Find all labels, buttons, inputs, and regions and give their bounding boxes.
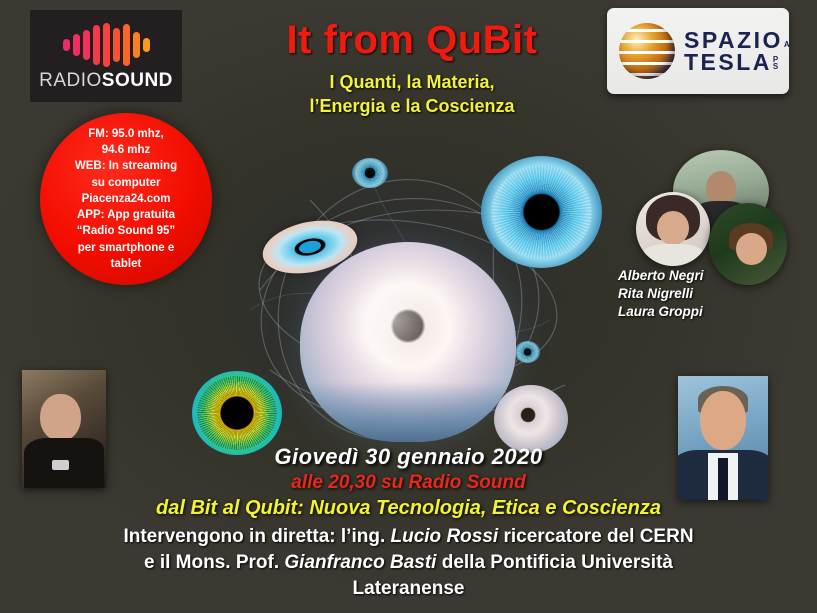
page-title: It from QuBit [232, 18, 592, 63]
radio-sound-wordmark: RADIOSOUND [39, 71, 173, 90]
presenter-name-0: Alberto Negri [618, 267, 704, 285]
spazio-tesla-wordmark: SPAZIO A TESLA PS [684, 29, 790, 73]
info-line-3: su computer [91, 177, 160, 189]
info-line-0: FM: 95.0 mhz, [88, 128, 163, 140]
presenter-name-2: Laura Groppi [618, 303, 704, 321]
info-line-8: tablet [111, 258, 142, 270]
eye-blue-top-right-icon [481, 156, 602, 268]
tesla-word-spazio: SPAZIO [684, 29, 783, 51]
subtitle-line-1: I Quanti, la Materia, [232, 70, 592, 94]
event-time: alle 20,30 su Radio Sound [0, 472, 817, 494]
radio-sound-logo: RADIOSOUND [30, 10, 182, 102]
eye-rainbow-bottom-left-icon [192, 371, 282, 455]
logo-word-radio: RADIO [39, 70, 102, 91]
event-topic: dal Bit al Qubit: Nuova Tecnologia, Etic… [0, 497, 817, 520]
footer-line2-prefix: e il Mons. Prof. [144, 552, 284, 573]
waveform-icon [63, 23, 150, 67]
subtitle-line-2: l’Energia e la Coscienza [232, 94, 592, 118]
footer-guest-lucio-rossi: Lucio Rossi [391, 526, 499, 547]
eye-tiny-right-icon [515, 341, 540, 363]
avatar-rita-nigrelli [636, 192, 710, 266]
station-info-text: FM: 95.0 mhz, 94.6 mhz WEB: In streaming… [63, 126, 189, 273]
poster-canvas: RADIOSOUND It from QuBit I Quanti, la Ma… [0, 0, 817, 613]
footer-guest-gianfranco-basti: Gianfranco Basti [284, 552, 436, 573]
eye-small-top-center-icon [352, 158, 388, 188]
presenter-name-1: Rita Nigrelli [618, 285, 704, 303]
page-subtitle: I Quanti, la Materia, l’Energia e la Cos… [232, 70, 592, 119]
globe-icon [619, 23, 675, 79]
station-info-badge: FM: 95.0 mhz, 94.6 mhz WEB: In streaming… [40, 113, 212, 285]
avatar-laura-groppi [709, 203, 787, 285]
presenter-names: Alberto Negri Rita Nigrelli Laura Groppi [618, 267, 704, 321]
footer-line1-suffix: ricercatore del CERN [498, 526, 693, 547]
info-line-7: per smartphone e [78, 242, 175, 254]
info-line-4: Piacenza24.com [82, 193, 171, 205]
eye-main-large-icon [300, 242, 516, 442]
footer-line3: Lateranense [353, 578, 465, 599]
logo-word-sound: SOUND [102, 70, 173, 91]
info-line-5: APP: App gratuita [77, 209, 175, 221]
info-line-1: 94.6 mhz [102, 144, 151, 156]
info-line-2: WEB: In streaming [75, 160, 177, 172]
footer-line2-suffix: della Pontificia Università [436, 552, 673, 573]
event-date: Giovedì 30 gennaio 2020 [0, 444, 817, 470]
tesla-suffix-ps: PS [773, 56, 778, 71]
tesla-suffix-a: A [784, 41, 790, 49]
info-line-6: “Radio Sound 95” [77, 225, 175, 237]
footer-line1-prefix: Intervengono in diretta: l’ing. [123, 526, 390, 547]
spazio-tesla-logo: SPAZIO A TESLA PS [607, 8, 789, 94]
tesla-word-tesla: TESLA [684, 51, 772, 73]
speakers-description: Intervengono in diretta: l’ing. Lucio Ro… [22, 524, 795, 601]
photo-gianfranco-basti [22, 370, 106, 488]
